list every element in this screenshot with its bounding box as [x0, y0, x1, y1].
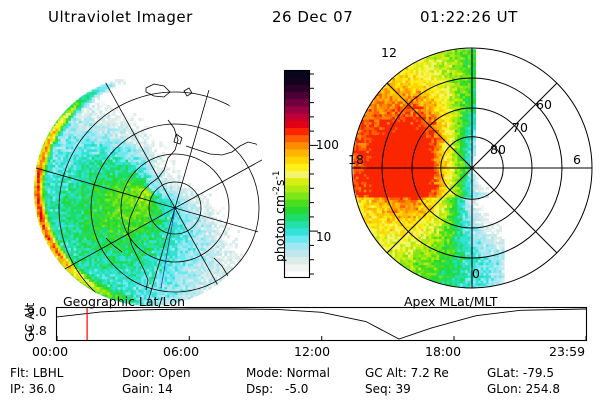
status-door-key: Door: [122, 366, 155, 380]
observation-date: 26 Dec 07 [272, 8, 353, 26]
orbit-altitude-curve [57, 309, 586, 339]
orbit-xtick-4: 23:59 [549, 344, 585, 359]
status-gc-alt-value: 7.2 Re [411, 366, 449, 380]
status-flt-key: Flt: [10, 366, 29, 380]
status-gain-value: 14 [157, 382, 172, 396]
apex-polar-plot [345, 42, 600, 294]
status-ip-value: 36.0 [29, 382, 56, 396]
colorbar-unit-photon: photon cm [272, 195, 287, 262]
mlat-ring-label-80: 80 [490, 142, 506, 157]
status-door-value: Open [159, 366, 191, 380]
status-ip-key: IP: [10, 382, 25, 396]
mlt-label-0: 0 [472, 266, 480, 281]
colorbar[interactable] [284, 70, 310, 278]
status-flt: Flt: LBHL [10, 366, 63, 380]
status-dsp: Dsp: -5.0 [246, 382, 308, 396]
orbit-track-plot[interactable] [56, 307, 587, 341]
status-gain: Gain: 14 [122, 382, 173, 396]
colorbar-tick-label-100: 100 [316, 138, 339, 152]
status-mode: Mode: Normal [246, 366, 330, 380]
status-ip: IP: 36.0 [10, 382, 55, 396]
status-glat: GLat: -79.5 [487, 366, 554, 380]
colorbar-gradient [285, 70, 309, 279]
mlat-ring-label-70: 70 [512, 120, 528, 135]
orbit-xtick-1: 06:00 [163, 344, 199, 359]
status-glon-key: GLon: [487, 382, 522, 396]
status-dsp-value: -5.0 [285, 382, 308, 396]
status-glat-value: -79.5 [523, 366, 554, 380]
observation-time: 01:22:26 UT [420, 8, 518, 26]
mlt-label-6: 6 [573, 152, 581, 167]
status-gc-alt: GC Alt: 7.2 Re [365, 366, 449, 380]
status-flt-value: LBHL [33, 366, 64, 380]
mlt-label-18: 18 [348, 152, 364, 167]
gc-alt-tick-9: 9.0 [27, 304, 47, 319]
colorbar-unit-exp2: -1 [272, 171, 282, 180]
orbit-xtick-2: 12:00 [294, 344, 330, 359]
mlat-ring-label-60: 60 [536, 97, 552, 112]
status-glon-value: 254.8 [526, 382, 560, 396]
instrument-title: Ultraviolet Imager [48, 8, 193, 26]
colorbar-unit-s: s [272, 180, 287, 187]
mlt-graticule [352, 48, 592, 288]
colorbar-unit-exp1: -2 [272, 186, 282, 195]
colorbar-ticks [310, 74, 318, 274]
colorbar-tick-label-10: 10 [316, 230, 331, 244]
orbit-xtick-3: 18:00 [425, 344, 461, 359]
status-mode-key: Mode: [246, 366, 283, 380]
status-seq: Seq: 39 [365, 382, 411, 396]
status-seq-key: Seq: [365, 382, 392, 396]
status-glat-key: GLat: [487, 366, 519, 380]
aurora-pixel-layer [32, 79, 248, 308]
mlt-label-12: 12 [381, 45, 397, 60]
status-gc-alt-key: GC Alt: [365, 366, 407, 380]
status-glon: GLon: 254.8 [487, 382, 560, 396]
status-seq-value: 39 [396, 382, 411, 396]
orbit-xtick-0: 00:00 [32, 344, 68, 359]
status-mode-value: Normal [287, 366, 330, 380]
apex-dial-panel[interactable] [345, 42, 600, 294]
geographic-image-panel[interactable] [18, 42, 268, 294]
geographic-plot [18, 42, 268, 294]
aurora-pixel-layer-mlt [353, 49, 504, 289]
gc-alt-tick-1-8: 1.8 [27, 323, 47, 338]
status-door: Door: Open [122, 366, 191, 380]
status-dsp-key: Dsp: [246, 382, 273, 396]
status-gain-key: Gain: [122, 382, 154, 396]
orbit-x-ticks [57, 336, 586, 340]
